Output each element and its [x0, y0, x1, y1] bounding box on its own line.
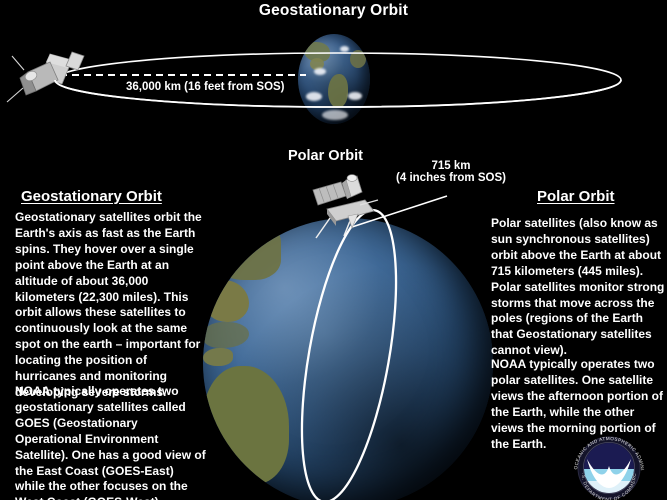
polar-distance-label: 715 km (4 inches from SOS) [381, 160, 521, 184]
noaa-logo: NATIONAL OCEANIC AND ATMOSPHERIC ADMINIS… [563, 432, 659, 500]
earth-globe-large-icon [203, 218, 493, 500]
polar-distance-line-2: (4 inches from SOS) [381, 172, 521, 184]
polar-orbit-title: Polar Orbit [288, 148, 363, 164]
noaa-logo-graphic: NATIONAL OCEANIC AND ATMOSPHERIC ADMINIS… [563, 432, 659, 500]
right-column-paragraph-1: Polar satellites (also know as sun synch… [491, 216, 667, 359]
polar-distance-line-1: 715 km [381, 160, 521, 172]
left-column-paragraph-2: NOAA typically operates two geostationar… [15, 384, 207, 500]
geostationary-distance-label: 36,000 km (16 feet from SOS) [126, 81, 285, 93]
left-column-paragraph-1: Geostationary satellites orbit the Earth… [15, 210, 207, 401]
right-column-heading: Polar Orbit [537, 188, 615, 205]
earth-globe-icon [298, 34, 370, 124]
orbit-infographic: Geostationary Orbit [0, 0, 667, 500]
left-column-heading: Geostationary Orbit [21, 188, 162, 205]
geostationary-diagram [0, 28, 667, 133]
page-title: Geostationary Orbit [0, 2, 667, 20]
satellite-icon [7, 52, 84, 102]
